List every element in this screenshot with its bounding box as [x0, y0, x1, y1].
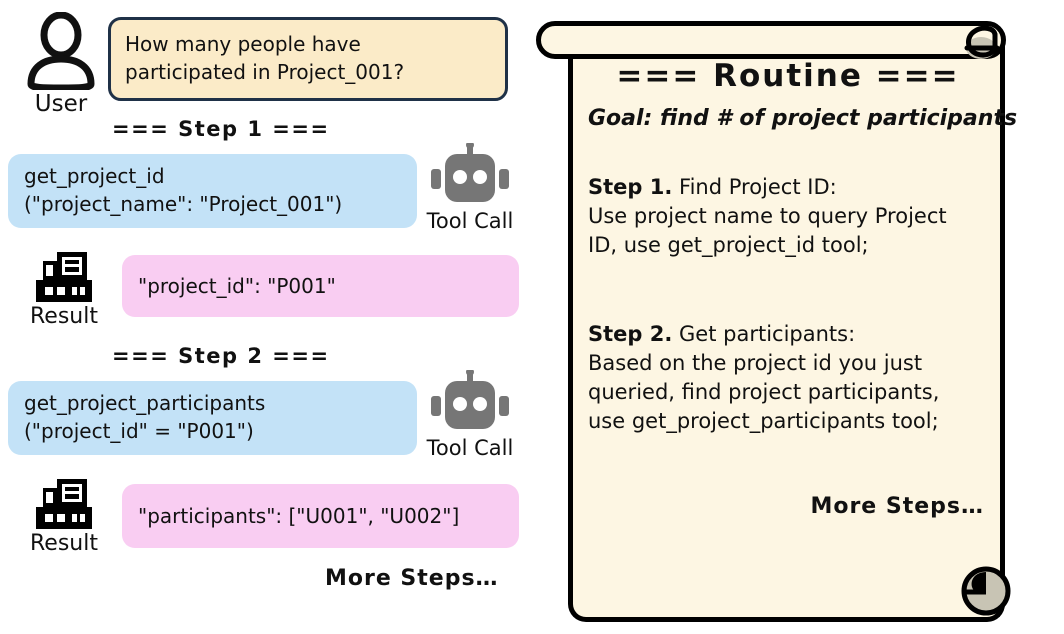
step-1-divider: === Step 1 ===: [112, 117, 330, 141]
tool-call-1-line-2: ("project_name": "Project_001"): [24, 190, 401, 218]
result-text-1: "project_id": "P001": [138, 274, 336, 298]
routine-step-2-heading: Get participants:: [679, 322, 855, 346]
user-question-bubble: How many people have participated in Pro…: [108, 17, 508, 101]
routine-step-2-number: Step 2.: [588, 322, 672, 346]
user-question-line-1: How many people have: [125, 30, 491, 58]
routine-step-1-number: Step 1.: [588, 175, 672, 199]
robot-icon: [420, 370, 520, 436]
routine-step-1: Step 1. Find Project ID: Use project nam…: [588, 173, 988, 260]
more-steps-right-label: More Steps…: [588, 494, 988, 519]
tool-call-bubble-2: get_project_participants ("project_id" =…: [8, 381, 417, 455]
result-actor-1: Result: [22, 252, 106, 329]
conversation-trace-panel: User How many people have participated i…: [0, 0, 532, 634]
database-building-icon: [22, 479, 106, 529]
tool-call-actor-1: Tool Call: [420, 143, 520, 233]
database-building-icon: [22, 252, 106, 302]
tool-call-actor-2: Tool Call: [420, 370, 520, 460]
routine-step-1-heading: Find Project ID:: [679, 175, 837, 199]
user-actor: User: [14, 12, 108, 117]
tool-call-2-line-1: get_project_participants: [24, 389, 401, 417]
routine-scroll-panel: === Routine === Goal: find # of project …: [532, 0, 1064, 634]
result-bubble-1: "project_id": "P001": [122, 255, 519, 317]
scroll-bottom-curl-icon: [960, 562, 1016, 622]
result-actor-2: Result: [22, 479, 106, 556]
tool-call-label-1: Tool Call: [420, 209, 520, 233]
routine-step-2-body-line-2: queried, find project participants,: [588, 378, 988, 407]
result-label-2: Result: [22, 531, 106, 556]
user-question-line-2: participated in Project_001?: [125, 58, 491, 86]
tool-call-label-2: Tool Call: [420, 436, 520, 460]
result-text-2: "participants": ["U001", "U002"]: [138, 504, 459, 528]
robot-icon: [420, 143, 520, 209]
more-steps-left-label: More Steps…: [325, 566, 499, 591]
tool-call-1-line-1: get_project_id: [24, 162, 401, 190]
routine-step-1-body-line-2: ID, use get_project_id tool;: [588, 231, 988, 260]
routine-step-2-body-line-1: Based on the project id you just: [588, 349, 988, 378]
step-2-divider: === Step 2 ===: [112, 344, 330, 368]
user-avatar-icon: [14, 12, 108, 90]
result-label-1: Result: [22, 304, 106, 329]
tool-call-bubble-1: get_project_id ("project_name": "Project…: [8, 154, 417, 228]
result-bubble-2: "participants": ["U001", "U002"]: [122, 484, 519, 548]
routine-title: === Routine ===: [588, 58, 988, 94]
routine-step-1-body-line-1: Use project name to query Project: [588, 202, 988, 231]
scroll-top-roller: [536, 21, 1006, 59]
tool-call-2-line-2: ("project_id" = "P001"): [24, 417, 401, 445]
routine-step-2-body-line-3: use get_project_participants tool;: [588, 407, 988, 436]
routine-content: === Routine === Goal: find # of project …: [588, 58, 988, 519]
routine-step-2: Step 2. Get participants: Based on the p…: [588, 320, 988, 436]
routine-goal: Goal: find # of project participants: [588, 106, 988, 131]
user-actor-label: User: [14, 91, 108, 117]
